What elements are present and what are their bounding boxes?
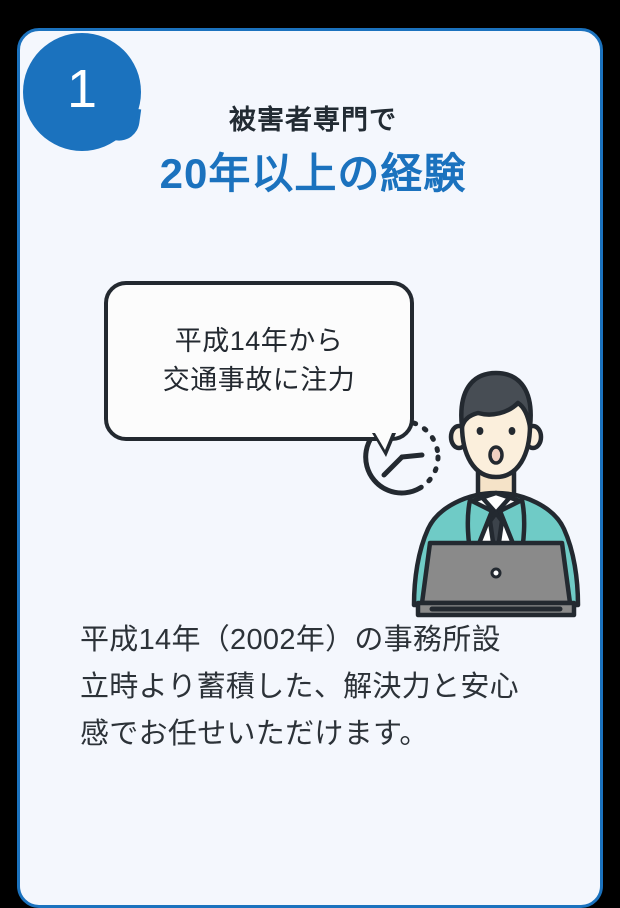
speech-bubble-tail-fill — [375, 433, 392, 450]
speech-bubble-text: 平成14年から 交通事故に注力 — [163, 322, 356, 400]
businessman-with-laptop-illustration — [396, 367, 596, 632]
card-body-text: 平成14年（2002年）の事務所設 立時より蓄積した、解決力と安心 感でお任せい… — [80, 617, 580, 758]
speech-bubble: 平成14年から 交通事故に注力 — [104, 281, 414, 441]
heading-title: 20年以上の経験 — [20, 148, 606, 201]
step-number-badge: 1 — [23, 33, 141, 151]
screenshot-stage: 1 被害者専門で 20年以上の経験 平成14年から 交通事故に注力 — [0, 0, 620, 880]
badge-number-label: 1 — [23, 33, 141, 145]
feature-card: 1 被害者専門で 20年以上の経験 平成14年から 交通事故に注力 — [17, 28, 603, 908]
